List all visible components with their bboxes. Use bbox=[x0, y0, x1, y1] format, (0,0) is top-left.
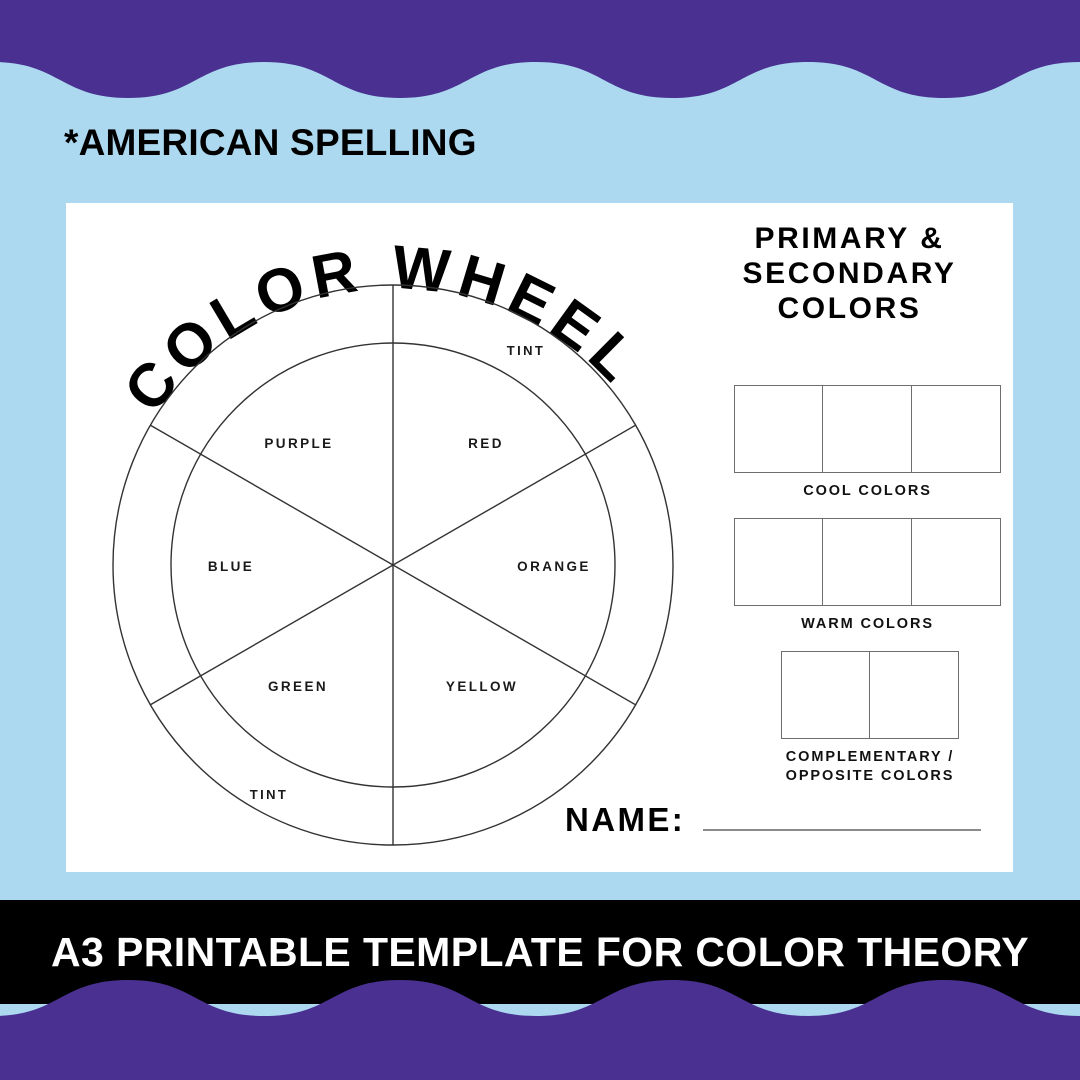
wheel-segment-orange: ORANGE bbox=[517, 559, 591, 574]
worksheet-card: COLOR WHEEL PURPLE RED ORANGE YELLOW GRE… bbox=[66, 203, 1013, 872]
primary-secondary-panel: PRIMARY & SECONDARY COLORS COOL COLORS W… bbox=[686, 203, 1013, 872]
name-label: NAME: bbox=[565, 803, 685, 836]
complementary-colors-group: COMPLEMENTARY / OPPOSITE COLORS bbox=[781, 651, 959, 786]
warm-color-swatch-1[interactable] bbox=[735, 519, 823, 605]
complementary-colors-boxes bbox=[781, 651, 959, 739]
wheel-segment-blue: BLUE bbox=[208, 559, 254, 574]
cool-colors-caption: COOL COLORS bbox=[734, 482, 1001, 501]
complementary-colors-caption: COMPLEMENTARY / OPPOSITE COLORS bbox=[781, 748, 959, 786]
wheel-ring-label-tint-bottom: TINT bbox=[250, 787, 288, 802]
cool-colors-boxes bbox=[734, 385, 1001, 473]
panel-heading: PRIMARY & SECONDARY COLORS bbox=[686, 221, 1013, 326]
wheel-segment-green: GREEN bbox=[268, 679, 328, 694]
name-input-line[interactable] bbox=[703, 829, 981, 831]
complementary-color-swatch-1[interactable] bbox=[782, 652, 870, 738]
bottom-wave-band bbox=[0, 970, 1080, 1080]
cool-colors-group: COOL COLORS bbox=[734, 385, 1001, 501]
cool-color-swatch-3[interactable] bbox=[912, 386, 1000, 472]
name-field: NAME: bbox=[565, 803, 981, 836]
cool-color-swatch-2[interactable] bbox=[823, 386, 911, 472]
american-spelling-note: *AMERICAN SPELLING bbox=[64, 122, 477, 164]
poster-canvas: *AMERICAN SPELLING COLOR WHEEL bbox=[0, 0, 1080, 1080]
bottom-wave-shape bbox=[0, 970, 1080, 1080]
wheel-segment-purple: PURPLE bbox=[264, 436, 333, 451]
warm-colors-group: WARM COLORS bbox=[734, 518, 1001, 634]
warm-colors-boxes bbox=[734, 518, 1001, 606]
cool-color-swatch-1[interactable] bbox=[735, 386, 823, 472]
wheel-segment-red: RED bbox=[468, 436, 504, 451]
color-wheel-diagram: COLOR WHEEL PURPLE RED ORANGE YELLOW GRE… bbox=[66, 203, 706, 872]
warm-color-swatch-3[interactable] bbox=[912, 519, 1000, 605]
wheel-segment-yellow: YELLOW bbox=[446, 679, 518, 694]
warm-colors-caption: WARM COLORS bbox=[734, 615, 1001, 634]
footer-banner-text: A3 PRINTABLE TEMPLATE FOR COLOR THEORY bbox=[51, 929, 1029, 976]
top-wave-shape bbox=[0, 0, 1080, 110]
complementary-color-swatch-2[interactable] bbox=[870, 652, 958, 738]
top-wave-band bbox=[0, 0, 1080, 110]
warm-color-swatch-2[interactable] bbox=[823, 519, 911, 605]
color-wheel-area: COLOR WHEEL PURPLE RED ORANGE YELLOW GRE… bbox=[66, 203, 706, 872]
wheel-ring-label-tint-top: TINT bbox=[507, 343, 545, 358]
color-wheel-title: COLOR WHEEL bbox=[111, 232, 656, 424]
